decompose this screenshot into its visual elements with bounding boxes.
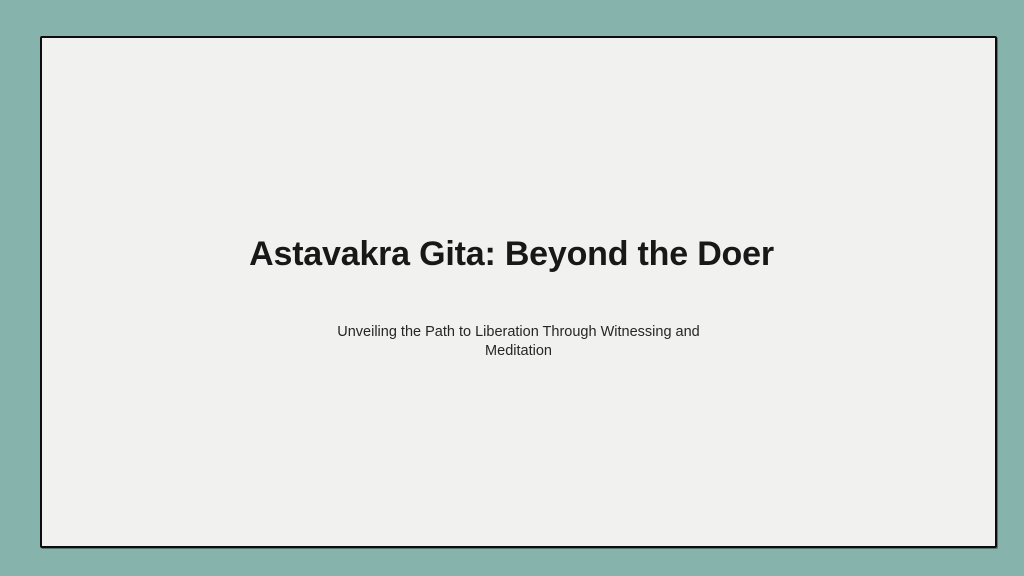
- subtitle-placeholder: Unveiling the Path to Liberation Through…: [331, 274, 707, 360]
- page-title: Astavakra Gita: Beyond the Doer: [42, 234, 995, 274]
- slide-subtitle: Unveiling the Path to Liberation Through…: [331, 323, 707, 360]
- slide-stage: Astavakra Gita: Beyond the Doer Unveilin…: [0, 0, 1024, 576]
- slide-content-panel: Astavakra Gita: Beyond the Doer Unveilin…: [40, 36, 997, 548]
- title-block: Astavakra Gita: Beyond the Doer Unveilin…: [42, 234, 995, 360]
